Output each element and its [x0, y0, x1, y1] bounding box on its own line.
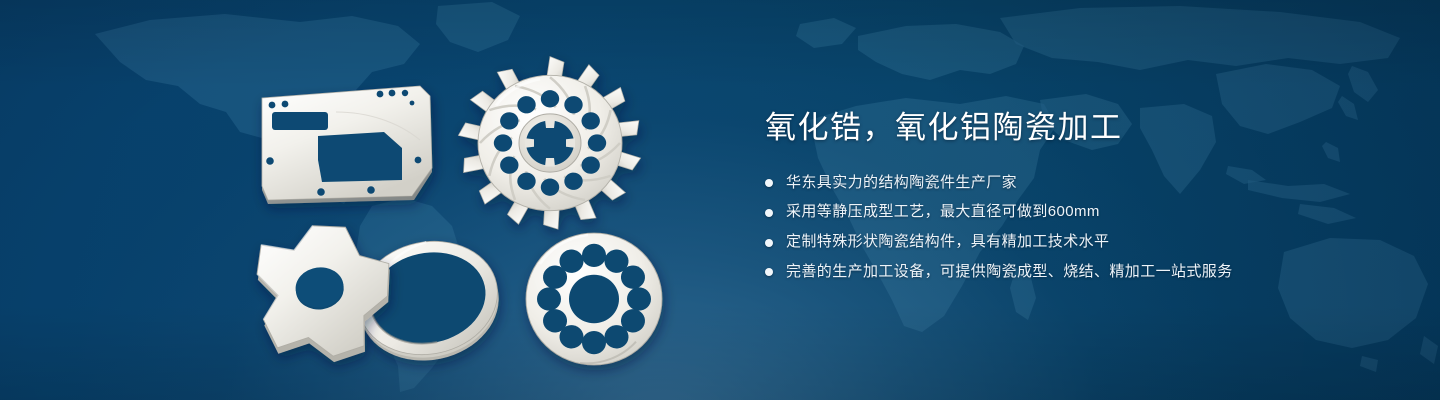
ceramic-flat-plate	[262, 86, 432, 204]
feature-list: 华东具实力的结构陶瓷件生产厂家 采用等静压成型工艺，最大直径可做到600mm 定…	[765, 174, 1385, 282]
bullet-dot-icon	[765, 209, 773, 217]
list-item: 华东具实力的结构陶瓷件生产厂家	[765, 174, 1385, 193]
ceramic-perforated-disc	[526, 233, 662, 365]
list-item-label: 完善的生产加工设备，可提供陶瓷成型、烧结、精加工一站式服务	[786, 263, 1233, 282]
list-item: 采用等静压成型工艺，最大直径可做到600mm	[765, 203, 1385, 222]
page-title: 氧化锆，氧化铝陶瓷加工	[765, 108, 1385, 148]
list-item-label: 华东具实力的结构陶瓷件生产厂家	[786, 174, 1017, 193]
ceramic-impeller-disc	[458, 57, 642, 231]
banner-copy: 氧化锆，氧化铝陶瓷加工 华东具实力的结构陶瓷件生产厂家 采用等静压成型工艺，最大…	[765, 108, 1385, 282]
promo-banner: 氧化锆，氧化铝陶瓷加工 华东具实力的结构陶瓷件生产厂家 采用等静压成型工艺，最大…	[0, 0, 1440, 400]
bullet-dot-icon	[765, 239, 773, 247]
list-item: 完善的生产加工设备，可提供陶瓷成型、烧结、精加工一站式服务	[765, 263, 1385, 282]
bullet-dot-icon	[765, 179, 773, 187]
ceramic-cross-plate	[251, 216, 401, 371]
bullet-dot-icon	[765, 268, 773, 276]
list-item-label: 定制特殊形状陶瓷结构件，具有精加工技术水平	[786, 233, 1109, 252]
list-item: 定制特殊形状陶瓷结构件，具有精加工技术水平	[765, 233, 1385, 252]
list-item-label: 采用等静压成型工艺，最大直径可做到600mm	[786, 203, 1100, 222]
product-photo-cluster	[0, 0, 700, 400]
